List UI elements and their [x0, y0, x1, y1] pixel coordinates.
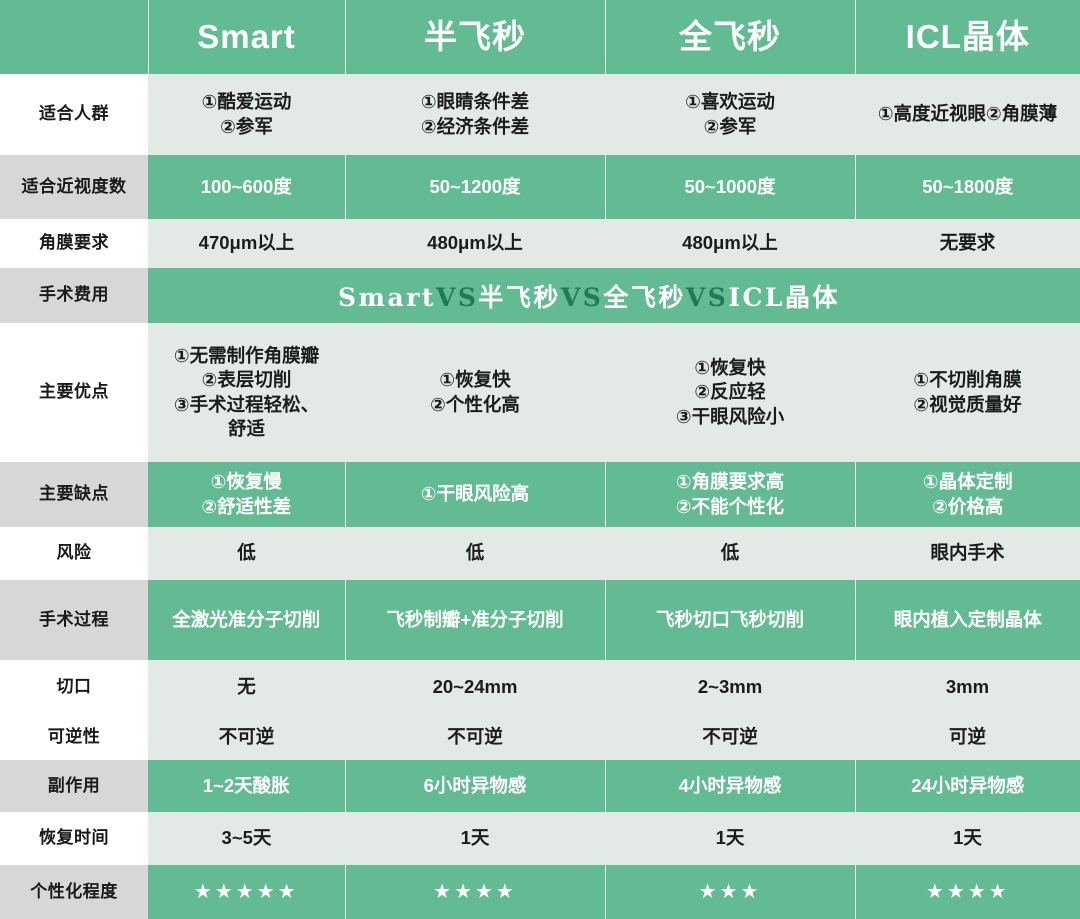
cell-suitable-people-half: ①眼睛条件差 ②经济条件差: [345, 74, 605, 155]
cell-side-effects-half: 6小时异物感: [345, 760, 605, 812]
cell-suitable-people-icl: ①高度近视眼②角膜薄: [855, 74, 1080, 155]
cell-line: ②舒适性差: [152, 495, 341, 519]
cell-cornea-requirement-icl: 无要求: [855, 219, 1080, 268]
cell-line: 1天: [349, 826, 601, 850]
row-label-main-disadvantages: 主要缺点: [0, 462, 148, 527]
cell-line: ②参军: [609, 115, 851, 139]
cell-line: ③手术过程轻松、: [152, 393, 341, 417]
cell-surgery-cost-half: [345, 268, 605, 323]
cell-myopia-range-full: 50~1000度: [605, 155, 855, 219]
cell-line: 3mm: [859, 675, 1076, 699]
cell-reversibility-smart: 不可逆: [148, 714, 345, 760]
table-row: 手术过程 全激光准分子切削 飞秒制瓣+准分子切削 飞秒切口飞秒切削 眼内植入定制…: [0, 580, 1080, 660]
cell-risk-smart: 低: [148, 527, 345, 580]
cell-line: ①角膜要求高: [610, 470, 851, 494]
cell-line: 2~3mm: [609, 675, 851, 699]
cell-line: ③干眼风险小: [609, 405, 851, 429]
row-label-main-advantages: 主要优点: [0, 323, 148, 462]
cell-line: 6小时异物感: [350, 774, 601, 798]
cell-main-advantages-smart: ①无需制作角膜瓣 ②表层切削 ③手术过程轻松、 舒适: [148, 323, 345, 462]
cell-incision-icl: 3mm: [855, 660, 1080, 714]
cell-line: 无要求: [859, 231, 1076, 255]
table-row: 风险 低 低 低 眼内手术: [0, 527, 1080, 580]
cell-line: 470μm以上: [152, 231, 341, 255]
cell-suitable-people-smart: ①酷爱运动 ②参军: [148, 74, 345, 155]
surgery-comparison-table: Smart 半飞秒 全飞秒 ICL晶体 适合人群 ①酷爱运动 ②参军 ①眼睛条件…: [0, 0, 1080, 919]
cell-line: 眼内手术: [859, 541, 1076, 565]
cell-line: 1天: [609, 826, 851, 850]
star-rating: ★★★★: [350, 879, 601, 905]
cell-line: ②反应轻: [609, 380, 851, 404]
cell-line: ①不切削角膜: [859, 368, 1076, 392]
cell-side-effects-smart: 1~2天酸胀: [148, 760, 345, 812]
table-row: 手术费用: [0, 268, 1080, 323]
cell-risk-full: 低: [605, 527, 855, 580]
row-label-suitable-people: 适合人群: [0, 74, 148, 155]
star-rating: ★★★: [610, 879, 851, 905]
header-smart: Smart: [148, 0, 345, 74]
cell-line: ①恢复快: [609, 356, 851, 380]
cell-line: 50~1200度: [350, 175, 601, 199]
cell-risk-icl: 眼内手术: [855, 527, 1080, 580]
header-corner-cell: [0, 0, 148, 74]
cell-line: ②经济条件差: [349, 115, 601, 139]
cell-line: ①晶体定制: [860, 470, 1077, 494]
cell-line: 3~5天: [152, 826, 341, 850]
cell-incision-half: 20~24mm: [345, 660, 605, 714]
cell-line: 不可逆: [349, 725, 601, 749]
cell-side-effects-full: 4小时异物感: [605, 760, 855, 812]
cell-incision-smart: 无: [148, 660, 345, 714]
table-row: 恢复时间 3~5天 1天 1天 1天: [0, 812, 1080, 865]
cell-personalization-half: ★★★★: [345, 865, 605, 919]
cell-line: ①高度近视眼②角膜薄: [859, 102, 1076, 126]
row-label-risk: 风险: [0, 527, 148, 580]
cell-line: ②视觉质量好: [859, 393, 1076, 417]
cell-line: 飞秒切口飞秒切削: [610, 608, 851, 632]
row-label-incision: 切口: [0, 660, 148, 714]
cell-reversibility-full: 不可逆: [605, 714, 855, 760]
cell-cornea-requirement-smart: 470μm以上: [148, 219, 345, 268]
cell-line: 20~24mm: [349, 675, 601, 699]
cell-line: ①恢复快: [349, 368, 601, 392]
row-label-side-effects: 副作用: [0, 760, 148, 812]
cell-myopia-range-icl: 50~1800度: [855, 155, 1080, 219]
cell-line: ①无需制作角膜瓣: [152, 344, 341, 368]
cell-surgery-process-full: 飞秒切口飞秒切削: [605, 580, 855, 660]
cell-main-disadvantages-half: ①干眼风险高: [345, 462, 605, 527]
cell-surgery-process-half: 飞秒制瓣+准分子切削: [345, 580, 605, 660]
row-label-surgery-process: 手术过程: [0, 580, 148, 660]
cell-line: ②不能个性化: [610, 495, 851, 519]
cell-line: 1~2天酸胀: [152, 774, 341, 798]
cell-line: 低: [152, 541, 341, 565]
row-label-personalization-level: 个性化程度: [0, 865, 148, 919]
cell-main-advantages-icl: ①不切削角膜 ②视觉质量好: [855, 323, 1080, 462]
header-half: 半飞秒: [345, 0, 605, 74]
table-row: 副作用 1~2天酸胀 6小时异物感 4小时异物感 24小时异物感: [0, 760, 1080, 812]
cell-line: ①喜欢运动: [609, 90, 851, 114]
cell-myopia-range-half: 50~1200度: [345, 155, 605, 219]
table-header-row: Smart 半飞秒 全飞秒 ICL晶体: [0, 0, 1080, 74]
cell-line: 舒适: [152, 417, 341, 441]
cell-reversibility-half: 不可逆: [345, 714, 605, 760]
cell-main-advantages-half: ①恢复快 ②个性化高: [345, 323, 605, 462]
cell-surgery-process-icl: 眼内植入定制晶体: [855, 580, 1080, 660]
row-label-reversibility: 可逆性: [0, 714, 148, 760]
table-row: 适合人群 ①酷爱运动 ②参军 ①眼睛条件差 ②经济条件差 ①喜欢运动 ②参军 ①…: [0, 74, 1080, 155]
cell-line: 不可逆: [609, 725, 851, 749]
comparison-infographic: Smart 半飞秒 全飞秒 ICL晶体 适合人群 ①酷爱运动 ②参军 ①眼睛条件…: [0, 0, 1080, 919]
cell-line: 480μm以上: [349, 231, 601, 255]
table-row: 可逆性 不可逆 不可逆 不可逆 可逆: [0, 714, 1080, 760]
cell-line: ①酷爱运动: [152, 90, 341, 114]
header-icl: ICL晶体: [855, 0, 1080, 74]
cell-line: 全激光准分子切削: [152, 608, 341, 632]
cell-line: 无: [152, 675, 341, 699]
table-row: 切口 无 20~24mm 2~3mm 3mm: [0, 660, 1080, 714]
cell-personalization-smart: ★★★★★: [148, 865, 345, 919]
cell-line: 480μm以上: [609, 231, 851, 255]
cell-surgery-cost-icl: [855, 268, 1080, 323]
cell-incision-full: 2~3mm: [605, 660, 855, 714]
cell-line: ①恢复慢: [152, 470, 341, 494]
cell-surgery-cost-smart: [148, 268, 345, 323]
star-rating: ★★★★: [860, 879, 1077, 905]
row-label-myopia-range: 适合近视度数: [0, 155, 148, 219]
cell-line: 24小时异物感: [860, 774, 1077, 798]
cell-myopia-range-smart: 100~600度: [148, 155, 345, 219]
cell-line: 低: [609, 541, 851, 565]
cell-line: ①干眼风险高: [350, 482, 601, 506]
table-row: 主要优点 ①无需制作角膜瓣 ②表层切削 ③手术过程轻松、 舒适 ①恢复快 ②个性…: [0, 323, 1080, 462]
cell-recovery-time-icl: 1天: [855, 812, 1080, 865]
cell-side-effects-icl: 24小时异物感: [855, 760, 1080, 812]
cell-line: 眼内植入定制晶体: [860, 608, 1077, 632]
row-label-surgery-cost: 手术费用: [0, 268, 148, 323]
cell-line: ②表层切削: [152, 368, 341, 392]
cell-risk-half: 低: [345, 527, 605, 580]
star-rating: ★★★★★: [152, 879, 341, 905]
cell-line: 100~600度: [152, 175, 341, 199]
cell-suitable-people-full: ①喜欢运动 ②参军: [605, 74, 855, 155]
table-row: 适合近视度数 100~600度 50~1200度 50~1000度 50~180…: [0, 155, 1080, 219]
cell-main-disadvantages-smart: ①恢复慢 ②舒适性差: [148, 462, 345, 527]
cell-surgery-process-smart: 全激光准分子切削: [148, 580, 345, 660]
cell-line: 50~1000度: [610, 175, 851, 199]
table-row: 角膜要求 470μm以上 480μm以上 480μm以上 无要求: [0, 219, 1080, 268]
cell-line: ①眼睛条件差: [349, 90, 601, 114]
cell-line: 低: [349, 541, 601, 565]
cell-line: ②个性化高: [349, 393, 601, 417]
table-row: 主要缺点 ①恢复慢 ②舒适性差 ①干眼风险高 ①角膜要求高 ②不能个性化 ①晶体…: [0, 462, 1080, 527]
cell-line: 不可逆: [152, 725, 341, 749]
cell-line: 1天: [859, 826, 1076, 850]
cell-reversibility-icl: 可逆: [855, 714, 1080, 760]
cell-recovery-time-half: 1天: [345, 812, 605, 865]
cell-recovery-time-full: 1天: [605, 812, 855, 865]
cell-surgery-cost-full: [605, 268, 855, 323]
cell-personalization-full: ★★★: [605, 865, 855, 919]
cell-line: ②价格高: [860, 495, 1077, 519]
cell-line: 飞秒制瓣+准分子切削: [350, 608, 601, 632]
cell-cornea-requirement-half: 480μm以上: [345, 219, 605, 268]
row-label-recovery-time: 恢复时间: [0, 812, 148, 865]
header-full: 全飞秒: [605, 0, 855, 74]
cell-cornea-requirement-full: 480μm以上: [605, 219, 855, 268]
cell-main-advantages-full: ①恢复快 ②反应轻 ③干眼风险小: [605, 323, 855, 462]
row-label-cornea-requirement: 角膜要求: [0, 219, 148, 268]
cell-recovery-time-smart: 3~5天: [148, 812, 345, 865]
cell-line: 可逆: [859, 725, 1076, 749]
table-row: 个性化程度 ★★★★★ ★★★★ ★★★ ★★★★: [0, 865, 1080, 919]
cell-line: ②参军: [152, 115, 341, 139]
cell-line: 50~1800度: [860, 175, 1077, 199]
cell-main-disadvantages-icl: ①晶体定制 ②价格高: [855, 462, 1080, 527]
cell-personalization-icl: ★★★★: [855, 865, 1080, 919]
cell-main-disadvantages-full: ①角膜要求高 ②不能个性化: [605, 462, 855, 527]
cell-line: 4小时异物感: [610, 774, 851, 798]
